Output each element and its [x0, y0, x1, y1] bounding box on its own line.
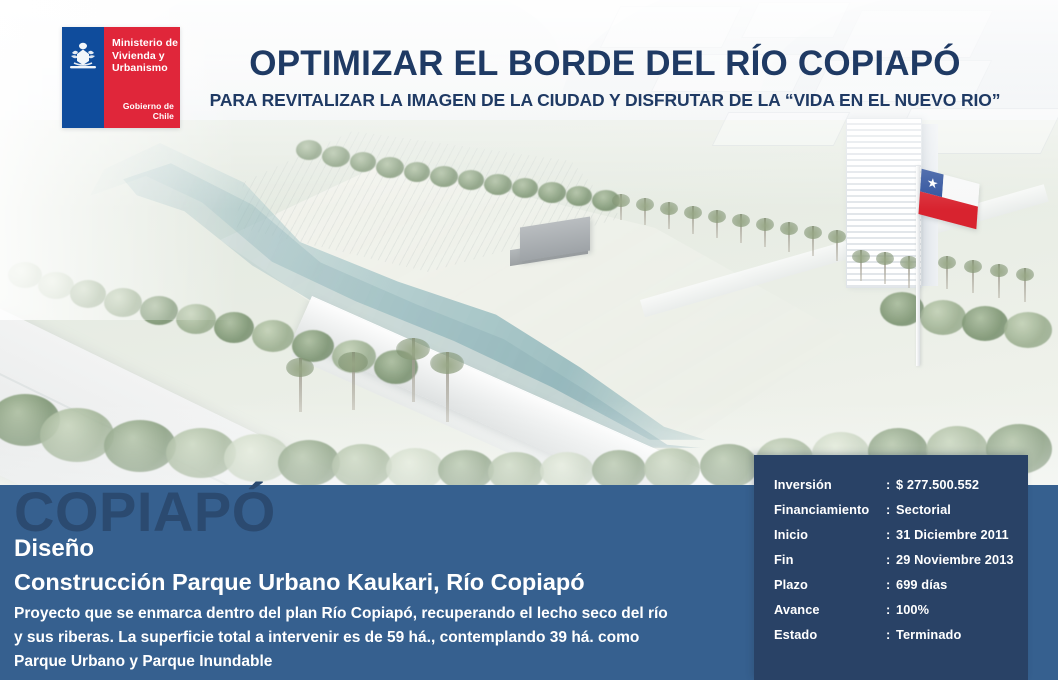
info-separator: : — [886, 602, 896, 617]
logo-red-panel: Ministerio de Vivienda y Urbanismo Gobie… — [104, 27, 180, 128]
title-block: OPTIMIZAR EL BORDE DEL RÍO COPIAPÓ PARA … — [190, 44, 1020, 111]
description-line: y sus riberas. La superficie total a int… — [14, 626, 740, 650]
logo-blue-panel — [62, 27, 104, 128]
info-row: Estado : Terminado — [754, 627, 1028, 652]
info-value-fin: 29 Noviembre 2013 — [896, 552, 1014, 567]
info-separator: : — [886, 477, 896, 492]
info-separator: : — [886, 527, 896, 542]
info-value-inversion: $ 277.500.552 — [896, 477, 979, 492]
info-label: Plazo — [774, 577, 886, 592]
info-separator: : — [886, 577, 896, 592]
project-name: Construcción Parque Urbano Kaukari, Río … — [14, 568, 585, 596]
project-stage: Diseño — [14, 535, 94, 563]
info-label: Avance — [774, 602, 886, 617]
info-label: Inversión — [774, 477, 886, 492]
info-row: Plazo : 699 días — [754, 577, 1028, 602]
logo-government-text: Gobierno de Chile — [104, 101, 174, 121]
info-row: Avance : 100% — [754, 602, 1028, 627]
info-value-plazo: 699 días — [896, 577, 947, 592]
info-row: Fin : 29 Noviembre 2013 — [754, 552, 1028, 577]
presentation-slide: Ministerio de Vivienda y Urbanismo Gobie… — [0, 0, 1058, 680]
info-label: Financiamiento — [774, 502, 886, 517]
info-value-avance: 100% — [896, 602, 929, 617]
info-value-inicio: 31 Diciembre 2011 — [896, 527, 1009, 542]
info-separator: : — [886, 552, 896, 567]
logo-ministry-text: Ministerio de Vivienda y Urbanismo — [112, 37, 178, 75]
description-line: Parque Urbano y Parque Inundable — [14, 650, 740, 674]
project-description: Proyecto que se enmarca dentro del plan … — [14, 602, 740, 674]
info-label: Inicio — [774, 527, 886, 542]
info-separator: : — [886, 502, 896, 517]
chile-coat-of-arms-icon — [68, 39, 98, 71]
info-value-estado: Terminado — [896, 627, 961, 642]
city-name: COPIAPÓ — [14, 481, 276, 543]
info-value-financiamiento: Sectorial — [896, 502, 951, 517]
info-label: Fin — [774, 552, 886, 567]
info-row: Inicio : 31 Diciembre 2011 — [754, 527, 1028, 552]
project-info-panel: Inversión : $ 277.500.552 Financiamiento… — [754, 455, 1028, 680]
info-separator: : — [886, 627, 896, 642]
minvu-logo: Ministerio de Vivienda y Urbanismo Gobie… — [62, 27, 180, 128]
info-row: Financiamiento : Sectorial — [754, 502, 1028, 527]
info-row: Inversión : $ 277.500.552 — [754, 477, 1028, 502]
info-label: Estado — [774, 627, 886, 642]
description-line: Proyecto que se enmarca dentro del plan … — [14, 602, 740, 626]
page-title: OPTIMIZAR EL BORDE DEL RÍO COPIAPÓ — [190, 44, 1020, 84]
page-subtitle: PARA REVITALIZAR LA IMAGEN DE LA CIUDAD … — [190, 90, 1020, 111]
